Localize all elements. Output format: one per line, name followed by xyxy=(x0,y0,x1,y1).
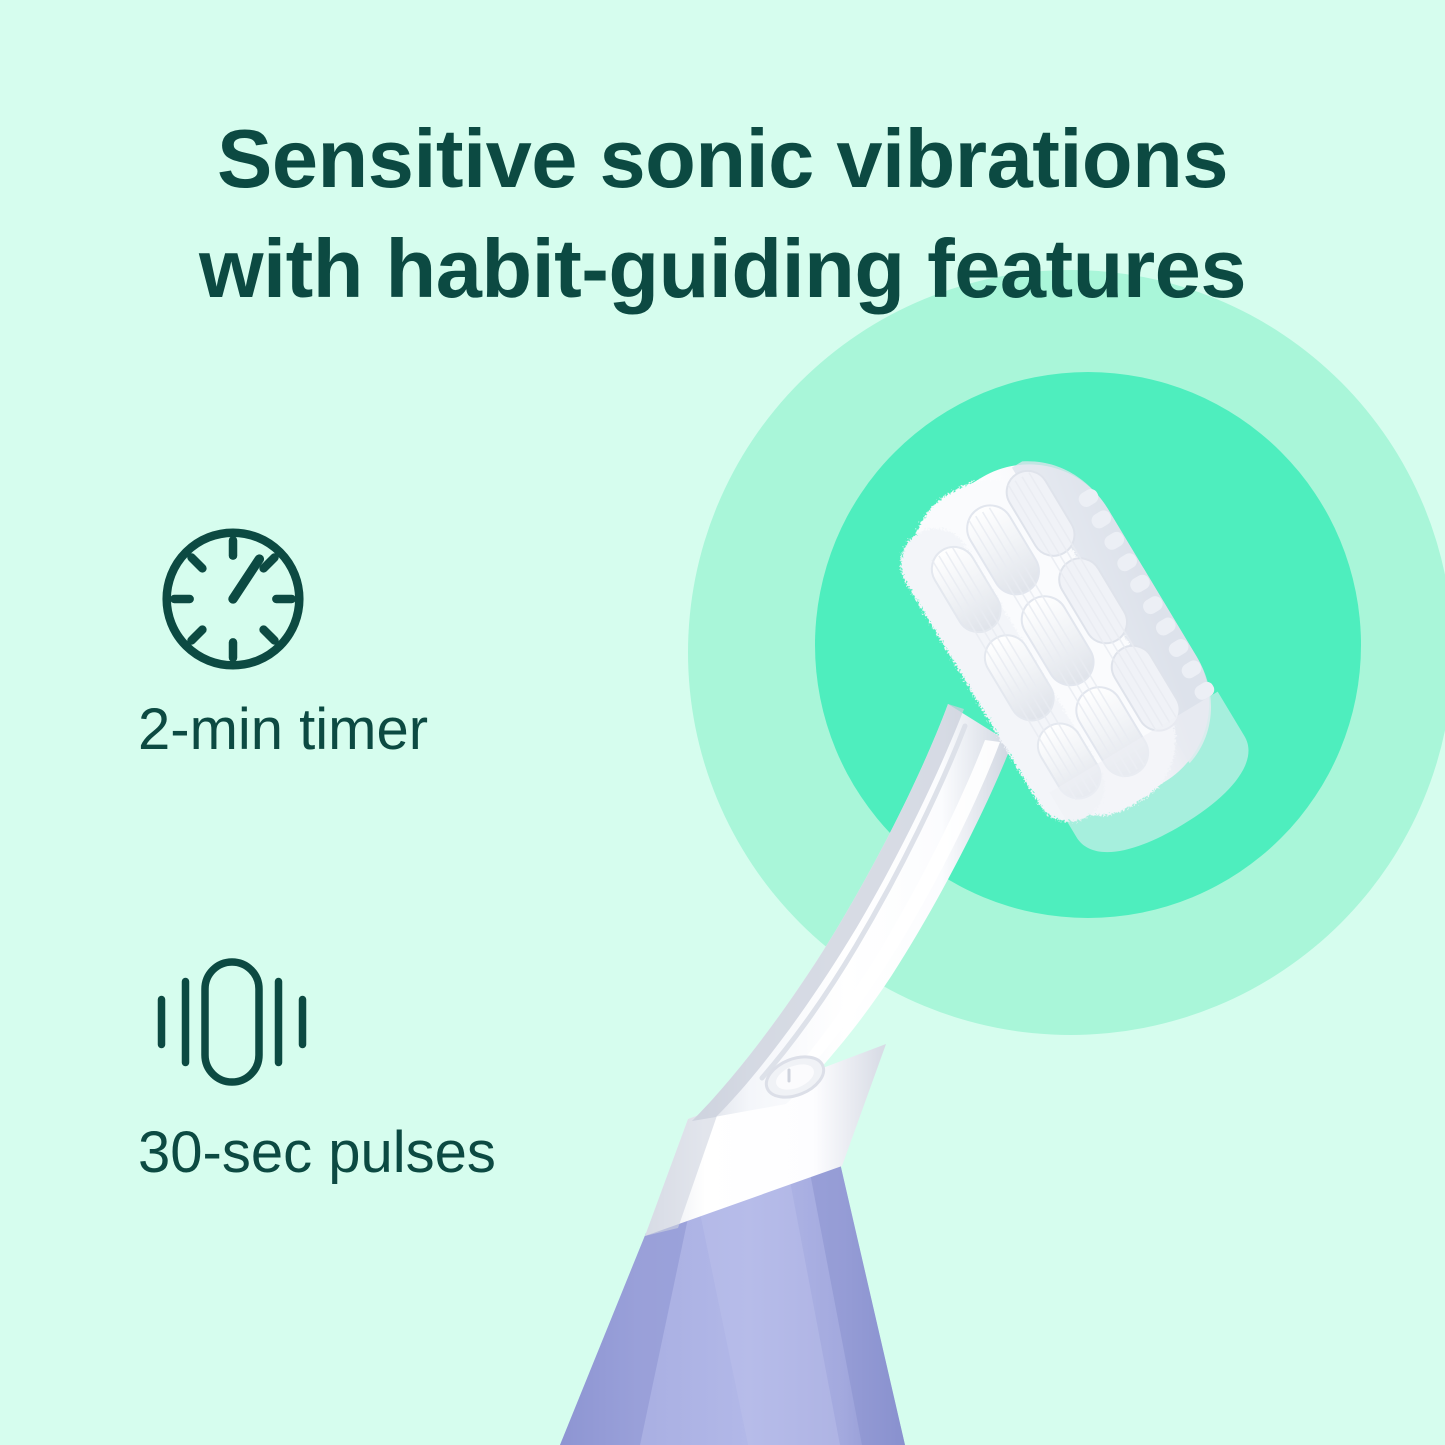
halo-inner-circle xyxy=(815,372,1361,918)
feature-label-pulses: 30-sec pulses xyxy=(130,1119,496,1186)
product-feature-card: Sensitive sonic vibrations with habit-gu… xyxy=(0,0,1445,1445)
power-button[interactable] xyxy=(760,1049,829,1105)
headline: Sensitive sonic vibrations with habit-gu… xyxy=(0,104,1445,323)
clock-icon xyxy=(130,510,496,688)
feature-list: 2-min timer 30-sec pulses xyxy=(130,510,496,1186)
feature-label-timer: 2-min timer xyxy=(130,696,496,763)
toothbrush-handle xyxy=(560,1163,905,1445)
toothbrush-collar xyxy=(645,1044,886,1236)
vibration-pulse-icon xyxy=(130,933,496,1111)
feature-item-timer: 2-min timer xyxy=(130,510,496,763)
feature-item-pulses: 30-sec pulses xyxy=(130,933,496,1186)
